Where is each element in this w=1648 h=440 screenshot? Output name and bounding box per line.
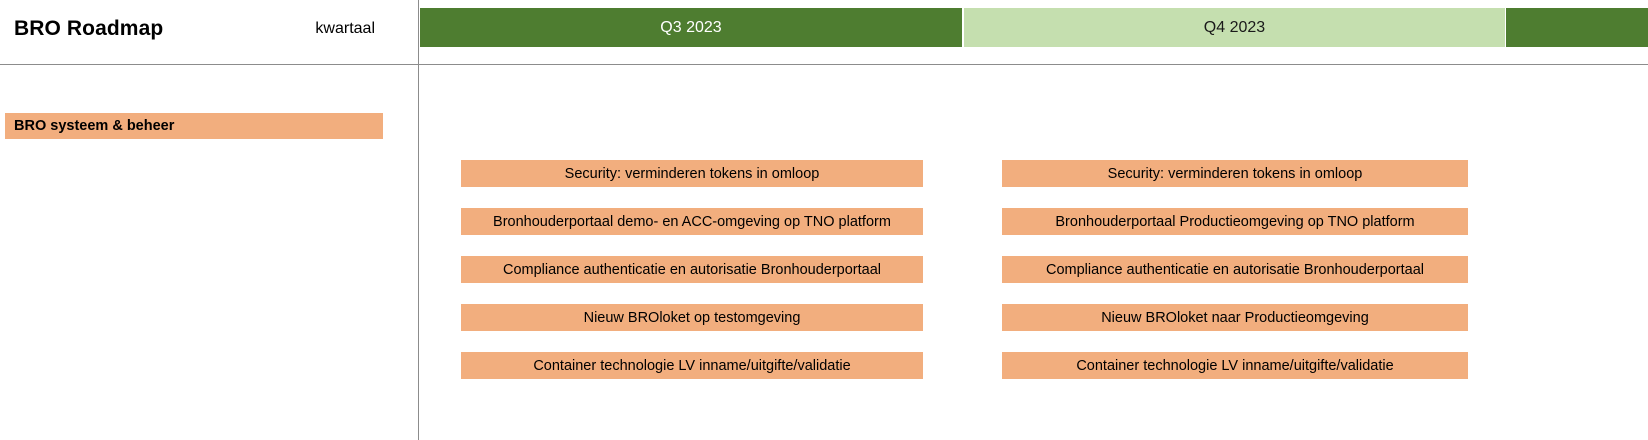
- roadmap-canvas: BRO Roadmap kwartaal Q3 2023Q4 2023 BRO …: [0, 0, 1648, 440]
- timeline-quarter-cell[interactable]: Q3 2023: [420, 8, 962, 47]
- page-title: BRO Roadmap: [14, 17, 163, 41]
- task-bar[interactable]: Container technologie LV inname/uitgifte…: [461, 352, 923, 379]
- lane-column-divider: [418, 0, 419, 440]
- header-divider: [0, 64, 1648, 65]
- task-bar[interactable]: Nieuw BROloket op testomgeving: [461, 304, 923, 331]
- roadmap-header: BRO Roadmap kwartaal Q3 2023Q4 2023: [0, 0, 1648, 64]
- timeline-quarter-headers: Q3 2023Q4 2023: [420, 8, 1648, 47]
- task-bar[interactable]: Container technologie LV inname/uitgifte…: [1002, 352, 1468, 379]
- task-bar[interactable]: Security: verminderen tokens in omloop: [1002, 160, 1468, 187]
- task-bar[interactable]: Compliance authenticatie en autorisatie …: [461, 256, 923, 283]
- task-bar[interactable]: Security: verminderen tokens in omloop: [461, 160, 923, 187]
- timeline-quarter-cell[interactable]: [1506, 8, 1648, 47]
- period-granularity-label: kwartaal: [225, 20, 375, 38]
- task-bar[interactable]: Nieuw BROloket naar Productieomgeving: [1002, 304, 1468, 331]
- task-bar[interactable]: Bronhouderportaal demo- en ACC-omgeving …: [461, 208, 923, 235]
- swimlane-label-bro-systeem-beheer: BRO systeem & beheer: [5, 113, 383, 139]
- task-bar[interactable]: Compliance authenticatie en autorisatie …: [1002, 256, 1468, 283]
- timeline-quarter-cell[interactable]: Q4 2023: [964, 8, 1505, 47]
- task-bar[interactable]: Bronhouderportaal Productieomgeving op T…: [1002, 208, 1468, 235]
